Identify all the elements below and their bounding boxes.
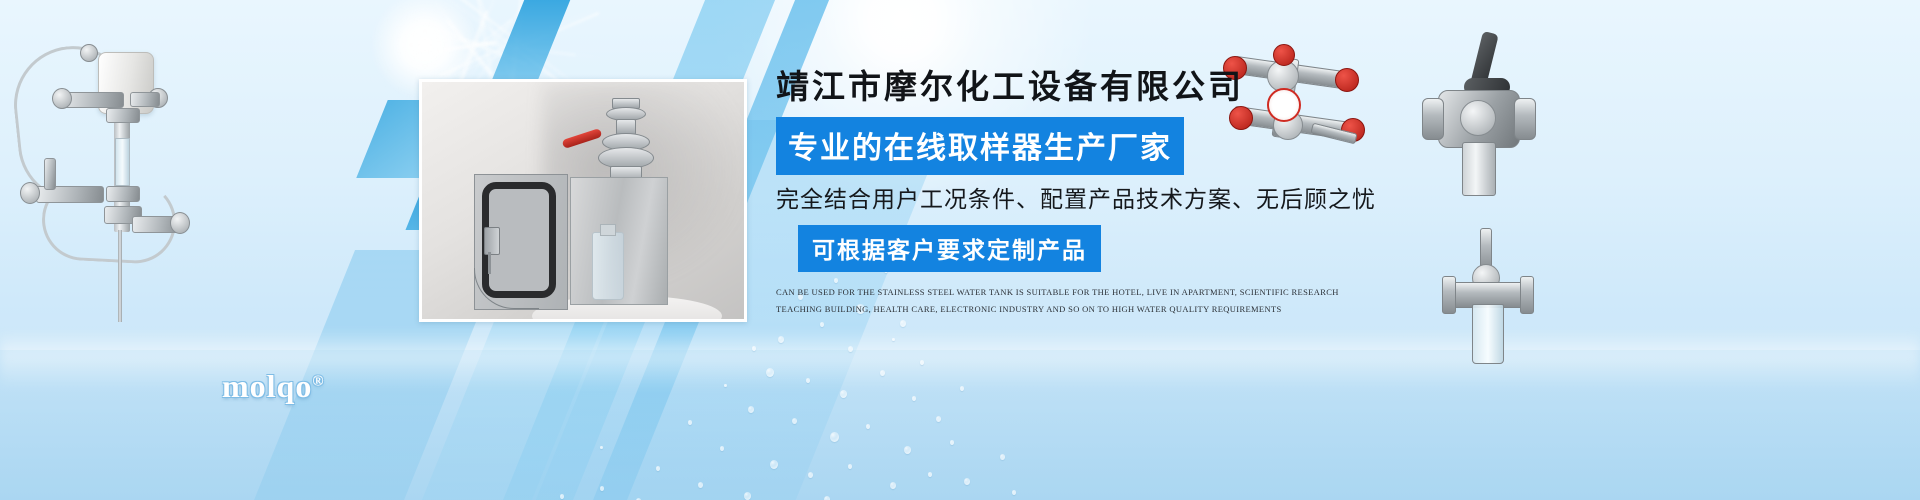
brand-logo-text: molqo bbox=[222, 368, 312, 404]
water-drop bbox=[720, 446, 724, 451]
water-drop bbox=[960, 386, 964, 391]
water-drop bbox=[600, 486, 604, 491]
water-drop bbox=[848, 464, 852, 469]
water-drop bbox=[808, 472, 813, 478]
water-drop bbox=[770, 460, 778, 469]
water-drop bbox=[656, 466, 660, 471]
water-drop bbox=[744, 492, 751, 500]
water-drop bbox=[752, 346, 756, 351]
registered-mark-icon: ® bbox=[312, 373, 324, 389]
water-drop bbox=[560, 494, 564, 499]
sampler-flange-d bbox=[20, 182, 40, 204]
water-drop bbox=[830, 432, 839, 442]
water-drop bbox=[724, 384, 727, 387]
water-drop bbox=[912, 396, 916, 401]
water-drop bbox=[950, 440, 954, 445]
promo-banner: 靖江市摩尔化工设备有限公司 专业的在线取样器生产厂家 完全结合用户工况条件、配置… bbox=[0, 0, 1920, 500]
photo-bottle-cap bbox=[600, 224, 616, 236]
water-drop bbox=[792, 418, 797, 424]
lever-valve-graphic bbox=[1420, 32, 1540, 212]
water-drop bbox=[820, 322, 824, 327]
water-drop bbox=[824, 496, 830, 500]
water-drop bbox=[900, 320, 906, 327]
water-drop bbox=[880, 370, 885, 376]
water-drop bbox=[1000, 454, 1005, 460]
water-drop bbox=[778, 336, 784, 343]
sampler-flange-e bbox=[170, 212, 190, 234]
sampler-flange-a bbox=[80, 44, 98, 62]
text-column: 靖江市摩尔化工设备有限公司 专业的在线取样器生产厂家 完全结合用户工况条件、配置… bbox=[776, 70, 1416, 317]
water-drop bbox=[964, 478, 970, 485]
photo-sample-bottle bbox=[592, 232, 624, 300]
english-description: CAN BE USED FOR THE STAINLESS STEEL WATE… bbox=[776, 284, 1376, 317]
water-drop bbox=[866, 424, 870, 429]
online-sampler-graphic bbox=[14, 30, 194, 320]
water-drop bbox=[806, 378, 810, 383]
brand-logo: molqo® bbox=[222, 368, 325, 405]
subheadline: 完全结合用户工况条件、配置产品技术方案、无后顾之忧 bbox=[776, 185, 1416, 214]
water-drop bbox=[698, 482, 703, 488]
product-photo bbox=[419, 79, 747, 322]
photo-door-handle bbox=[484, 227, 500, 255]
water-drop bbox=[892, 338, 895, 341]
water-drop bbox=[890, 482, 896, 489]
water-drop bbox=[688, 420, 692, 425]
photo-valve-stack bbox=[598, 98, 652, 182]
water-drop bbox=[748, 406, 754, 413]
headline-row: 专业的在线取样器生产厂家 bbox=[776, 117, 1416, 175]
sampler-probe bbox=[118, 230, 122, 322]
sampler-needle-valve bbox=[44, 158, 56, 190]
sampler-arm-right bbox=[130, 92, 160, 107]
water-drop bbox=[600, 446, 603, 449]
sampler-flange-c bbox=[52, 88, 72, 109]
sampler-sight-glass bbox=[115, 138, 130, 186]
water-drop bbox=[920, 360, 924, 365]
sampler-collar-top bbox=[106, 108, 140, 123]
headline: 专业的在线取样器生产厂家 bbox=[776, 117, 1184, 175]
inline-sampling-valve-graphic bbox=[1448, 228, 1538, 378]
company-name: 靖江市摩尔化工设备有限公司 bbox=[776, 70, 1416, 106]
water-drop bbox=[840, 390, 847, 398]
water-drop bbox=[936, 416, 941, 422]
water-drop bbox=[766, 368, 774, 377]
water-drop bbox=[848, 346, 853, 352]
water-drop bbox=[928, 472, 932, 477]
water-drop bbox=[904, 446, 911, 454]
tagline: 可根据客户要求定制产品 bbox=[798, 225, 1101, 272]
water-drop bbox=[1012, 490, 1016, 495]
tagline-row: 可根据客户要求定制产品 bbox=[776, 225, 1416, 272]
